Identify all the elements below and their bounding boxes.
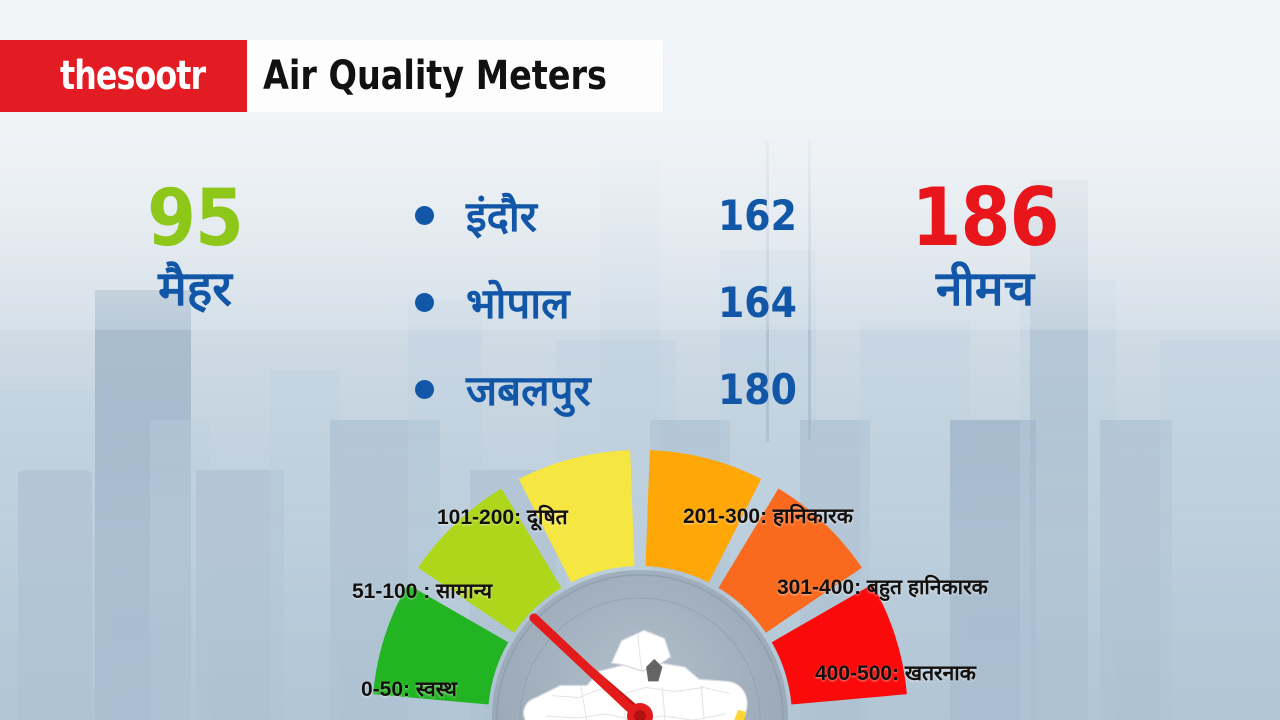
brand-logo-text: thesootr	[60, 53, 205, 99]
stat-value-left: 95	[45, 182, 345, 256]
list-item-value: 164	[718, 278, 797, 327]
stat-city-left: मैहर	[45, 262, 345, 319]
stat-card-left: 95 मैहर	[45, 182, 345, 319]
aqi-stats: 95 मैहर इंदौर 162 भोपाल 164 जबलपुर 180 1…	[0, 160, 1280, 420]
gauge-legend-0-50: 0-50: स्वस्थ	[361, 675, 457, 703]
stat-city-right: नीमच	[835, 262, 1135, 319]
gauge-legend-101-200: 101-200: दूषित	[437, 503, 568, 531]
page-header: thesootr Air Quality Meters	[0, 40, 663, 112]
stat-value-right: 186	[835, 180, 1135, 256]
list-item-city: जबलपुर	[466, 361, 718, 418]
list-item-city: भोपाल	[466, 274, 718, 331]
list-item-city: इंदौर	[466, 187, 718, 244]
gauge-legend-201-300: 201-300: हानिकारक	[683, 502, 853, 530]
gauge-legend-51-100: 51-100 : सामान्य	[352, 577, 492, 605]
bullet-icon	[415, 380, 434, 399]
bullet-icon	[415, 206, 434, 225]
gauge-legend-400-500: 400-500: खतरनाक	[815, 659, 976, 687]
city-aqi-list: इंदौर 162 भोपाल 164 जबलपुर 180	[415, 172, 825, 433]
gauge-legend-301-400: 301-400: बहुत हानिकारक	[777, 573, 988, 601]
list-item[interactable]: भोपाल 164	[415, 259, 825, 346]
stat-card-right: 186 नीमच	[835, 180, 1135, 319]
list-item-value: 180	[718, 365, 797, 414]
list-item-value: 162	[718, 191, 797, 240]
page-title: Air Quality Meters	[263, 53, 607, 99]
page-title-box: Air Quality Meters	[247, 40, 663, 112]
list-item[interactable]: जबलपुर 180	[415, 346, 825, 433]
brand-logo[interactable]: thesootr	[0, 40, 247, 112]
bullet-icon	[415, 293, 434, 312]
list-item[interactable]: इंदौर 162	[415, 172, 825, 259]
